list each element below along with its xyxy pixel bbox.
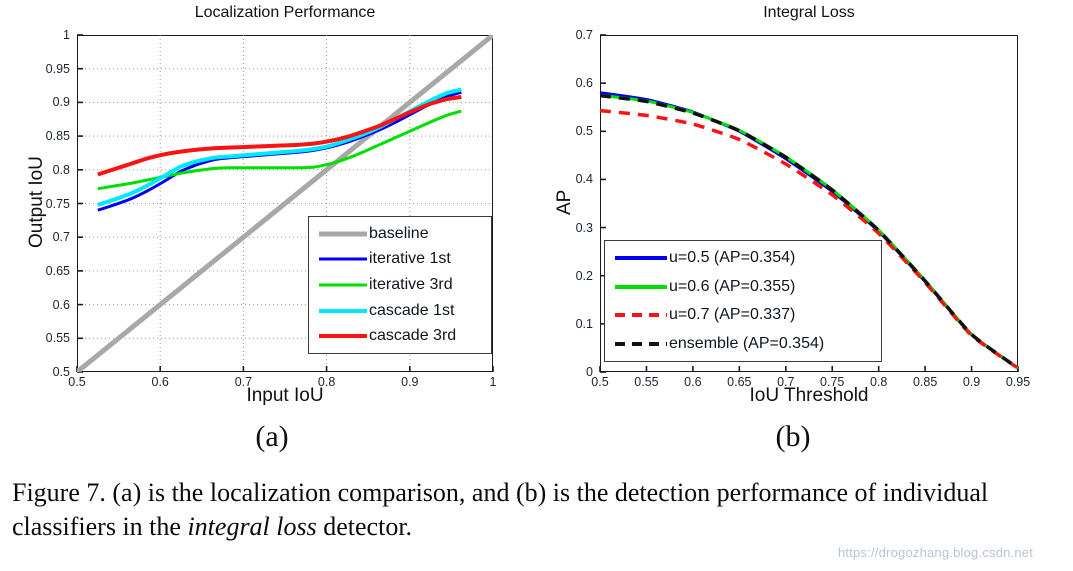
y-axis-title-a: Output IoU — [26, 156, 48, 248]
y-tick-label: 0.2 — [576, 269, 593, 283]
legend-swatch — [315, 328, 369, 344]
y-tick-label: 1 — [63, 28, 70, 42]
legend-a[interactable]: baselineiterative 1stiterative 3rdcascad… — [308, 216, 492, 354]
x-tick-label: 0.5 — [591, 375, 608, 389]
legend-label: u=0.6 (AP=0.355) — [669, 279, 795, 295]
legend-label: iterative 3rd — [369, 277, 453, 293]
legend-item[interactable]: iterative 1st — [309, 247, 491, 273]
watermark: https://drogozhang.blog.csdn.net — [838, 545, 1033, 560]
legend-label: cascade 3rd — [369, 328, 456, 344]
x-tick-label: 0.6 — [151, 375, 168, 389]
panel-integral-loss: Integral Loss 00.10.20.30.40.50.60.70.50… — [540, 0, 1073, 410]
x-tick-label: 0.5 — [68, 375, 85, 389]
y-tick-label: 0.8 — [53, 163, 70, 177]
x-axis-title-a: Input IoU — [246, 385, 323, 407]
x-tick-label: 0.85 — [913, 375, 937, 389]
legend-item[interactable]: baseline — [309, 221, 491, 247]
legend-label: baseline — [369, 226, 429, 242]
legend-item[interactable]: u=0.6 (AP=0.355) — [605, 273, 881, 302]
panel-localization-performance: Localization Performance 0.50.550.60.650… — [0, 0, 520, 410]
y-tick-label: 0.95 — [46, 62, 70, 76]
legend-item[interactable]: u=0.7 (AP=0.337) — [605, 301, 881, 330]
legend-label: cascade 1st — [369, 303, 454, 319]
legend-label: iterative 1st — [369, 251, 451, 267]
legend-swatch — [611, 307, 669, 323]
legend-swatch — [315, 303, 369, 319]
y-tick-label: 0.9 — [53, 95, 70, 109]
legend-item[interactable]: cascade 1st — [309, 298, 491, 324]
x-tick-label: 0.6 — [684, 375, 701, 389]
x-tick-label: 0.8 — [870, 375, 887, 389]
legend-swatch — [611, 279, 669, 295]
series-line — [98, 97, 462, 175]
figure-caption: Figure 7. (a) is the localization compar… — [12, 476, 1052, 544]
y-axis-title-b: AP — [554, 190, 576, 215]
y-tick-label: 0.1 — [576, 317, 593, 331]
y-tick-label: 0.3 — [576, 221, 593, 235]
x-tick-label: 1 — [490, 375, 497, 389]
sub-caption-a: (a) — [255, 420, 288, 454]
legend-swatch — [315, 251, 369, 267]
y-tick-label: 0.75 — [46, 197, 70, 211]
legend-item[interactable]: iterative 3rd — [309, 272, 491, 298]
caption-prefix: Figure 7. (a) is the localization compar… — [12, 478, 988, 541]
x-tick-label: 0.9 — [401, 375, 418, 389]
series-line — [98, 111, 462, 189]
y-tick-label: 0.5 — [576, 124, 593, 138]
legend-b[interactable]: u=0.5 (AP=0.354)u=0.6 (AP=0.355)u=0.7 (A… — [604, 240, 882, 362]
x-tick-label: 0.65 — [727, 375, 751, 389]
x-tick-label: 0.95 — [1006, 375, 1030, 389]
y-tick-label: 0.85 — [46, 129, 70, 143]
y-tick-label: 0.6 — [576, 76, 593, 90]
legend-swatch — [611, 336, 669, 352]
x-tick-label: 0.9 — [963, 375, 980, 389]
legend-label: u=0.7 (AP=0.337) — [669, 307, 795, 323]
x-tick-label: 0.55 — [634, 375, 658, 389]
y-tick-label: 0.7 — [576, 28, 593, 42]
y-tick-label: 0.65 — [46, 264, 70, 278]
legend-label: ensemble (AP=0.354) — [669, 336, 824, 352]
y-tick-label: 0.4 — [576, 172, 593, 186]
legend-swatch — [611, 250, 669, 266]
caption-italic: integral loss — [187, 512, 316, 541]
sub-caption-b: (b) — [776, 420, 811, 454]
y-tick-label: 0.7 — [53, 230, 70, 244]
legend-item[interactable]: ensemble (AP=0.354) — [605, 330, 881, 359]
legend-label: u=0.5 (AP=0.354) — [669, 250, 795, 266]
y-tick-label: 0.55 — [46, 331, 70, 345]
y-tick-label: 0.6 — [53, 298, 70, 312]
x-axis-title-b: IoU Threshold — [750, 385, 869, 407]
caption-suffix: detector. — [317, 512, 412, 541]
figure-7: Localization Performance 0.50.550.60.650… — [0, 0, 1073, 571]
legend-item[interactable]: cascade 3rd — [309, 323, 491, 349]
legend-swatch — [315, 277, 369, 293]
legend-item[interactable]: u=0.5 (AP=0.354) — [605, 244, 881, 273]
legend-swatch — [315, 226, 369, 242]
